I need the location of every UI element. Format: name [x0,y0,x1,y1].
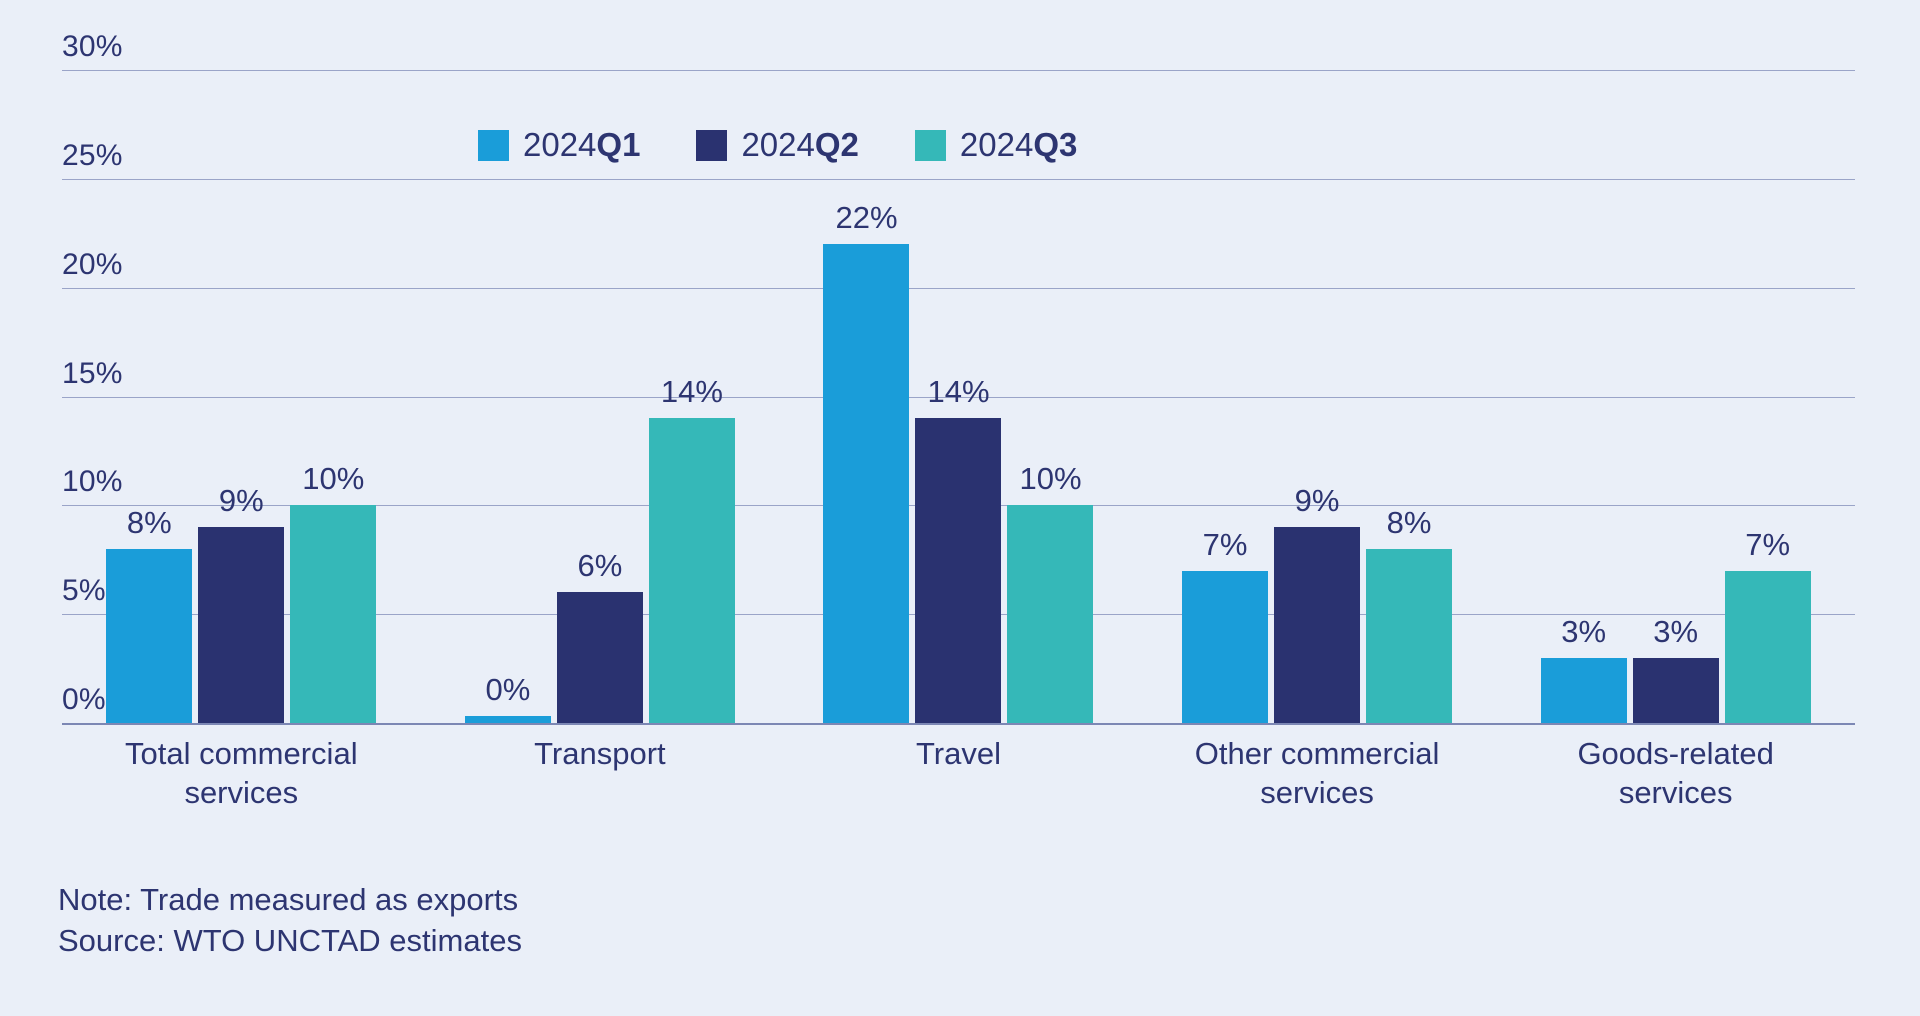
bar[interactable] [290,505,376,723]
category-label: Other commercialservices [1138,735,1497,813]
legend-label: 2024Q1 [523,126,640,164]
bar[interactable] [1274,527,1360,723]
bar-group: 0%6%14% [421,70,780,723]
bar-column: 9% [198,70,284,723]
chart-footnotes: Note: Trade measured as exports Source: … [58,880,522,962]
bar-value-label: 6% [577,548,622,584]
bar[interactable] [1725,571,1811,723]
bar[interactable] [649,418,735,723]
bar-value-label: 8% [1387,505,1432,541]
bar-group: 3%3%7% [1496,70,1855,723]
bar[interactable] [1633,658,1719,723]
category-label: Goods-relatedservices [1496,735,1855,813]
bar[interactable] [823,244,909,723]
bar-value-label: 10% [302,461,364,497]
legend-item-2024q3[interactable]: 2024Q3 [915,126,1077,164]
bar-column: 14% [649,70,735,723]
source-text: Source: WTO UNCTAD estimates [58,921,522,962]
bar-column: 7% [1725,70,1811,723]
bar-value-label: 3% [1653,614,1698,650]
bar-column: 0% [465,70,551,723]
bar-chart: 0%5%10%15%20%25%30% 2024Q12024Q22024Q3 8… [0,0,1920,1016]
bar-column: 7% [1182,70,1268,723]
legend-swatch-icon [478,130,509,161]
bar-value-label: 0% [485,672,530,708]
bar-value-label: 14% [927,374,989,410]
note-text: Note: Trade measured as exports [58,880,522,921]
bar-value-label: 22% [835,200,897,236]
bar-column: 3% [1633,70,1719,723]
bar-column: 3% [1541,70,1627,723]
bar[interactable] [1182,571,1268,723]
bar-value-label: 7% [1203,527,1248,563]
legend-swatch-icon [915,130,946,161]
bar-value-label: 9% [1295,483,1340,519]
bar[interactable] [1366,549,1452,723]
y-tick-label: 30% [62,30,123,64]
bar-column: 9% [1274,70,1360,723]
category-label: Total commercialservices [62,735,421,813]
legend-item-2024q2[interactable]: 2024Q2 [696,126,858,164]
bar-value-label: 3% [1561,614,1606,650]
bar-group: 8%9%10% [62,70,421,723]
bar[interactable] [1541,658,1627,723]
bar-set: 7%9%8% [1138,70,1497,723]
bar[interactable] [557,592,643,723]
bar[interactable] [915,418,1001,723]
bar-value-label: 7% [1745,527,1790,563]
bar-groups: 8%9%10%0%6%14%22%14%10%7%9%8%3%3%7% [62,70,1855,723]
bar-value-label: 10% [1019,461,1081,497]
bar-column: 22% [823,70,909,723]
bar-group: 7%9%8% [1138,70,1497,723]
legend-item-2024q1[interactable]: 2024Q1 [478,126,640,164]
bar[interactable] [465,716,551,723]
bar[interactable] [198,527,284,723]
legend-swatch-icon [696,130,727,161]
category-label: Transport [421,735,780,813]
bar-group: 22%14%10% [779,70,1138,723]
bar-set: 8%9%10% [62,70,421,723]
x-axis-category-labels: Total commercialservicesTransportTravelO… [62,735,1855,813]
bar-set: 0%6%14% [421,70,780,723]
gridline-0 [62,723,1855,725]
bar-column: 10% [1007,70,1093,723]
bar-column: 8% [1366,70,1452,723]
bar-column: 8% [106,70,192,723]
bar-set: 22%14%10% [779,70,1138,723]
legend-label: 2024Q3 [960,126,1077,164]
category-label: Travel [779,735,1138,813]
chart-legend: 2024Q12024Q22024Q3 [478,126,1077,164]
bar-column: 6% [557,70,643,723]
bar-value-label: 14% [661,374,723,410]
bar-column: 10% [290,70,376,723]
legend-label: 2024Q2 [741,126,858,164]
bar-set: 3%3%7% [1496,70,1855,723]
bar-value-label: 9% [219,483,264,519]
bar-value-label: 8% [127,505,172,541]
bar[interactable] [106,549,192,723]
bar[interactable] [1007,505,1093,723]
bar-column: 14% [915,70,1001,723]
